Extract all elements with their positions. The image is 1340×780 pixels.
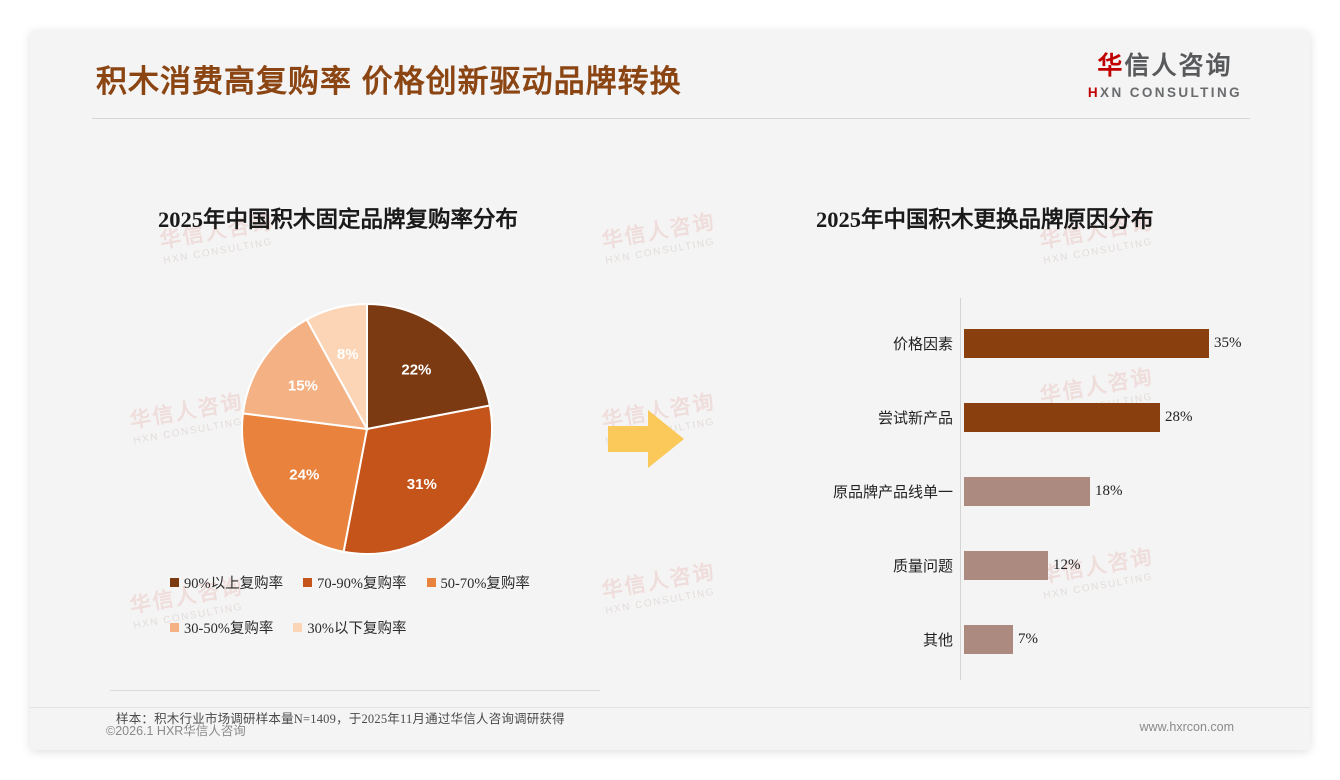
bar-fill [964,403,1160,432]
watermark: 华信人咨询HXN CONSULTING [599,205,720,266]
legend-label: 50-70%复购率 [441,572,530,593]
legend-label: 70-90%复购率 [317,572,406,593]
bar-value-label: 18% [1095,483,1123,500]
legend-item[interactable]: 30%以下复购率 [293,617,406,638]
watermark: 华信人咨询HXN CONSULTING [127,385,248,446]
bar-category-label: 质量问题 [790,555,964,576]
bar-value-label: 12% [1053,557,1081,574]
footer-copyright: ©2026.1 HXR华信人咨询 [106,720,246,739]
footer-website[interactable]: www.hxrcon.com [1140,720,1234,734]
legend-row: 30-50%复购率30%以下复购率 [170,617,590,638]
bar-value-label: 35% [1214,335,1242,352]
legend-item[interactable]: 70-90%复购率 [303,572,406,593]
bar-row[interactable]: 质量问题12% [790,546,1270,584]
bar-category-label: 价格因素 [790,333,964,354]
pie-slice-label: 15% [288,377,318,394]
bar-row[interactable]: 其他7% [790,620,1270,658]
left-chart-title: 2025年中国积木固定品牌复购率分布 [158,202,518,234]
bar-category-label: 原品牌产品线单一 [790,481,964,502]
legend-swatch [170,578,179,587]
bar-category-label: 尝试新产品 [790,407,964,428]
pie-svg: 22%31%24%15%8% [240,302,494,556]
bar-category-label: 其他 [790,629,964,650]
bar-value-label: 28% [1165,409,1193,426]
footer-divider [30,707,1310,708]
pie-slice-label: 24% [289,467,319,484]
right-arrow-icon [608,408,684,470]
source-divider [110,690,600,691]
legend-swatch [303,578,312,587]
legend-swatch [170,623,179,632]
legend-swatch [293,623,302,632]
bar-value-label: 7% [1018,631,1038,648]
pie-slice-label: 31% [407,476,437,493]
company-logo: 华信人咨询 HXN CONSULTING [1088,54,1242,100]
legend-item[interactable]: 50-70%复购率 [427,572,530,593]
bar-row[interactable]: 原品牌产品线单一18% [790,472,1270,510]
right-chart-title: 2025年中国积木更换品牌原因分布 [816,202,1154,234]
header-divider [92,118,1250,119]
logo-english-text: HXN CONSULTING [1088,86,1242,100]
slide-card: 华信人咨询HXN CONSULTING 华信人咨询HXN CONSULTING … [30,30,1310,750]
legend-row: 90%以上复购率70-90%复购率50-70%复购率 [170,572,590,593]
bar-row[interactable]: 尝试新产品28% [790,398,1270,436]
bar-fill [964,329,1209,358]
legend-item[interactable]: 90%以上复购率 [170,572,283,593]
brand-switch-reason-bar-chart: 价格因素35%尝试新产品28%原品牌产品线单一18%质量问题12%其他7% [790,298,1270,680]
slide-header: 积木消费高复购率 价格创新驱动品牌转换 华信人咨询 HXN CONSULTING [30,30,1310,122]
watermark: 华信人咨询HXN CONSULTING [599,555,720,616]
arrow-svg [608,408,684,470]
page-title: 积木消费高复购率 价格创新驱动品牌转换 [96,56,682,101]
bar-fill [964,625,1013,654]
bar-row[interactable]: 价格因素35% [790,324,1270,362]
logo-chinese-text: 华信人咨询 [1088,54,1242,79]
legend-label: 30%以下复购率 [307,617,406,638]
legend-swatch [427,578,436,587]
legend-item[interactable]: 30-50%复购率 [170,617,273,638]
legend-label: 90%以上复购率 [184,572,283,593]
legend-label: 30-50%复购率 [184,617,273,638]
pie-legend: 90%以上复购率70-90%复购率50-70%复购率 30-50%复购率30%以… [170,572,590,662]
pie-slice-label: 22% [401,361,431,378]
bar-fill [964,551,1048,580]
pie-slice-label: 8% [337,346,359,363]
bar-fill [964,477,1090,506]
repurchase-rate-pie-chart: 22%31%24%15%8% [240,302,494,556]
